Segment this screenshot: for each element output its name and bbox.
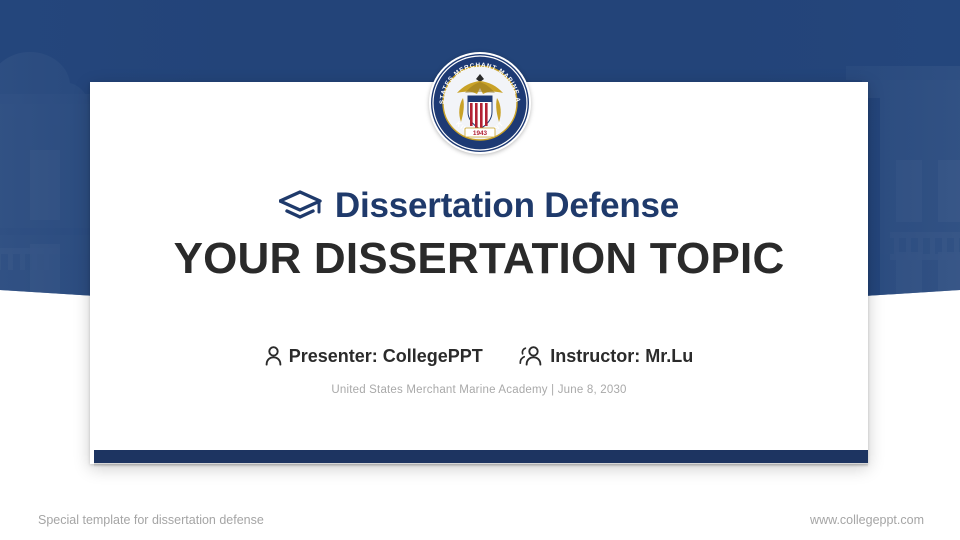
card-accent-bar — [94, 450, 868, 463]
seal-year-banner: 1943 — [465, 128, 495, 137]
page-title: YOUR DISSERTATION TOPIC — [90, 234, 868, 284]
card-accent-bar-shadow — [94, 463, 868, 467]
presentation-slide: UNITED STATES MERCHANT MARINE ACADEMY KI… — [0, 0, 960, 540]
person-icon — [265, 346, 282, 371]
credits-row: Presenter: CollegePPT Instructor: Mr.Lu — [90, 346, 868, 371]
presenter-credit: Presenter: CollegePPT — [265, 346, 483, 371]
eyebrow-heading: Dissertation Defense — [90, 186, 868, 229]
footer-website-link[interactable]: www.collegeppt.com — [810, 513, 924, 527]
eyebrow-label: Dissertation Defense — [335, 186, 679, 226]
footer-left-text: Special template for dissertation defens… — [38, 513, 264, 527]
institution-date-line: United States Merchant Marine Academy | … — [90, 384, 868, 396]
instructor-label: Instructor: Mr.Lu — [550, 346, 693, 367]
graduation-cap-icon — [279, 190, 323, 229]
instructor-credit: Instructor: Mr.Lu — [519, 346, 693, 371]
seal-year: 1943 — [473, 130, 488, 137]
people-icon — [519, 346, 543, 371]
presenter-label: Presenter: CollegePPT — [289, 346, 483, 367]
academy-seal: UNITED STATES MERCHANT MARINE ACADEMY KI… — [429, 52, 531, 154]
